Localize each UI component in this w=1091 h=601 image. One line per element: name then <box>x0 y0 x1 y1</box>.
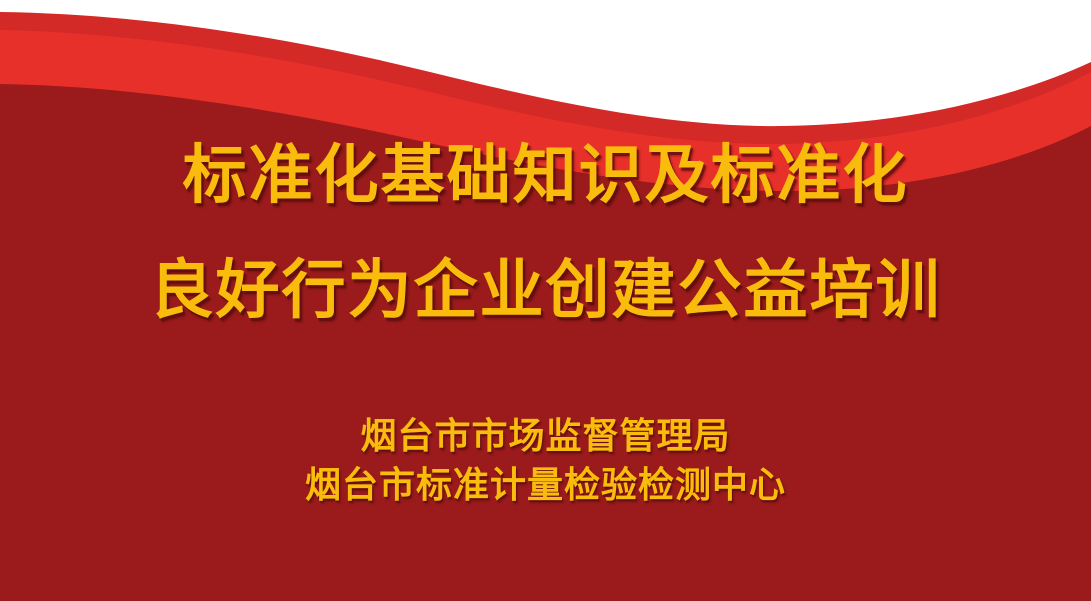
subtitle-line-2: 烟台市标准计量检验检测中心 <box>0 461 1091 510</box>
page-title: 标准化基础知识及标准化 良好行为企业创建公益培训 <box>0 118 1091 348</box>
poster-subtitle: 烟台市市场监督管理局 烟台市标准计量检验检测中心 <box>0 412 1091 510</box>
subtitle-line-1: 烟台市市场监督管理局 <box>0 412 1091 461</box>
title-line-2: 良好行为企业创建公益培训 <box>0 233 1091 348</box>
poster-canvas: 标准化基础知识及标准化 良好行为企业创建公益培训 烟台市市场监督管理局 烟台市标… <box>0 0 1091 601</box>
title-line-1: 标准化基础知识及标准化 <box>0 118 1091 233</box>
poster-content: 标准化基础知识及标准化 良好行为企业创建公益培训 烟台市市场监督管理局 烟台市标… <box>0 0 1091 601</box>
